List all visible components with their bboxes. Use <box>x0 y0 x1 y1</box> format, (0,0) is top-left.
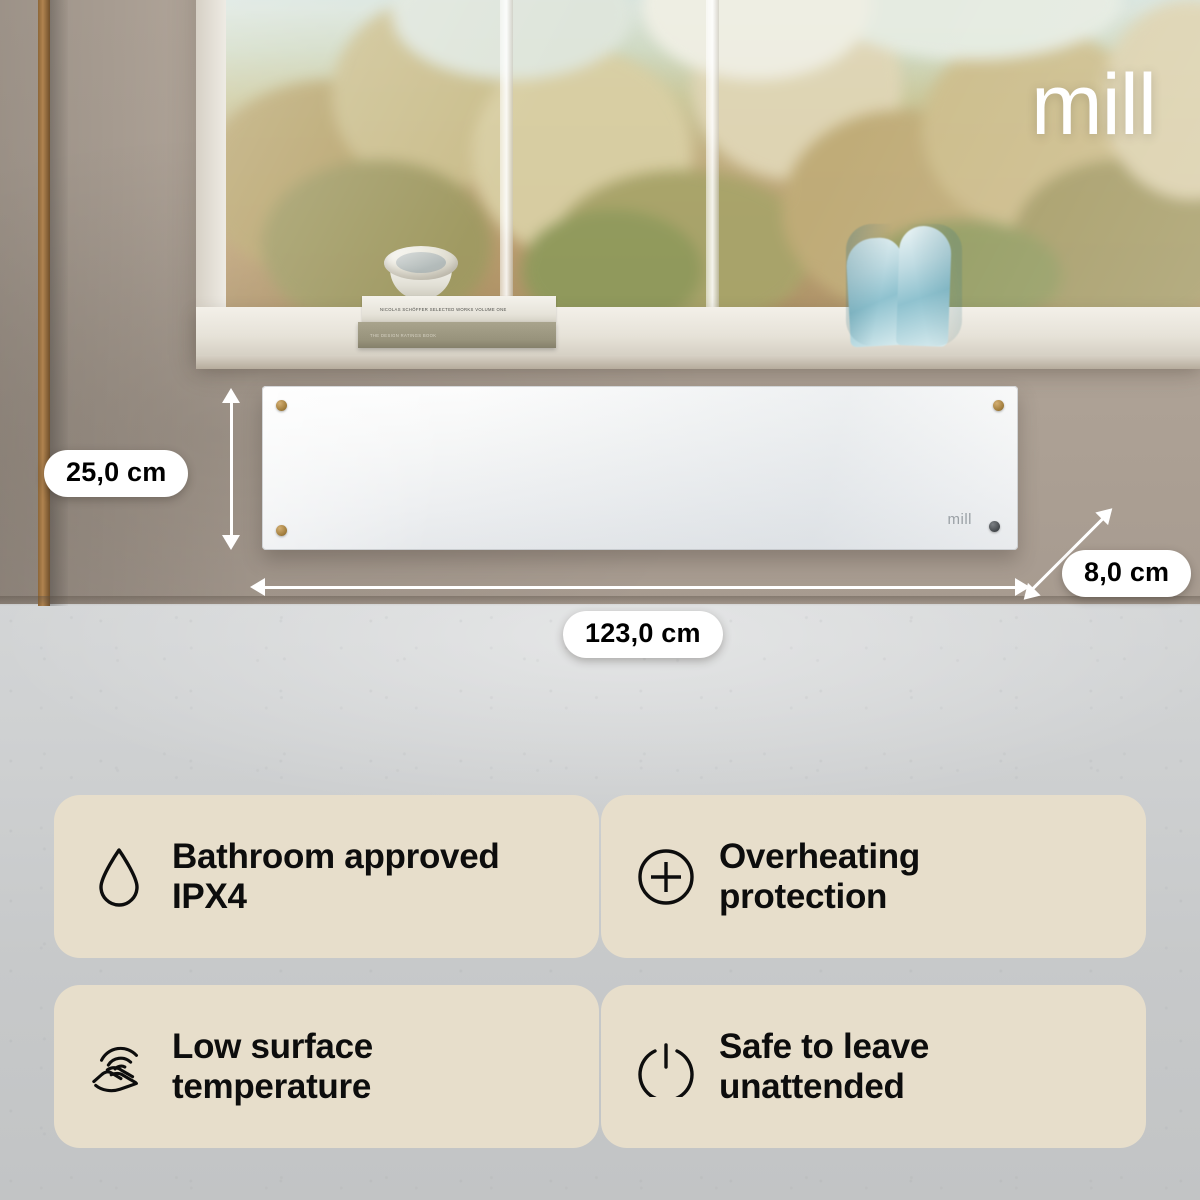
mill-brand-logo: mill <box>1031 62 1156 148</box>
door-frame-edge <box>38 0 50 606</box>
book-lower-spine: THE DESIGN RATINGS BOOK <box>370 333 436 338</box>
ceramic-bowl <box>384 246 458 300</box>
book-upper-spine: NICOLAS SCHÖFFER SELECTED WORKS VOLUME O… <box>380 307 507 312</box>
blue-ceramic-sculpture <box>846 224 962 346</box>
window-sill-front <box>196 355 1200 369</box>
power-button-icon <box>635 1036 697 1098</box>
book-stack: NICOLAS SCHÖFFER SELECTED WORKS VOLUME O… <box>358 296 556 356</box>
wall-return-shadow <box>50 0 68 606</box>
feature-card-safe-unattended[interactable]: Safe to leave unattended <box>601 985 1146 1148</box>
depth-dimension-label: 8,0 cm <box>1062 550 1191 597</box>
heater-brand-logo: mill <box>948 511 973 528</box>
window-mullion-right <box>706 0 719 307</box>
width-dimension-label: 123,0 cm <box>563 611 723 658</box>
height-dimension-arrow <box>222 388 240 550</box>
heater-edge <box>262 386 1018 550</box>
feature-card-bathroom-approved[interactable]: Bathroom approved IPX4 <box>54 795 599 958</box>
product-dimension-infographic: NICOLAS SCHÖFFER SELECTED WORKS VOLUME O… <box>0 0 1200 1200</box>
heater-screw-bottom-left <box>276 525 287 536</box>
heater-screw-top-right <box>993 400 1004 411</box>
window-mullion-left <box>500 0 513 307</box>
water-drop-icon <box>88 846 150 908</box>
feature-card-low-surface-temperature[interactable]: Low surface temperature <box>54 985 599 1148</box>
plus-circle-icon <box>635 846 697 908</box>
feature-card-grid: Bathroom approved IPX4 Overheating prote… <box>54 795 1146 1148</box>
panel-heater: mill <box>262 386 1018 550</box>
feature-label: Overheating protection <box>719 837 920 917</box>
height-dimension-label: 25,0 cm <box>44 450 188 497</box>
feature-label: Safe to leave unattended <box>719 1027 929 1107</box>
feature-label: Low surface temperature <box>172 1027 373 1107</box>
heater-screw-top-left <box>276 400 287 411</box>
feature-label: Bathroom approved IPX4 <box>172 837 499 917</box>
book-lower: THE DESIGN RATINGS BOOK <box>358 322 556 348</box>
wall-floor-junction <box>0 596 1200 606</box>
hand-heat-icon <box>88 1036 150 1098</box>
width-dimension-arrow <box>250 578 1030 596</box>
book-upper: NICOLAS SCHÖFFER SELECTED WORKS VOLUME O… <box>362 296 556 322</box>
heater-screw-bottom-right <box>989 521 1000 532</box>
feature-card-overheating-protection[interactable]: Overheating protection <box>601 795 1146 958</box>
